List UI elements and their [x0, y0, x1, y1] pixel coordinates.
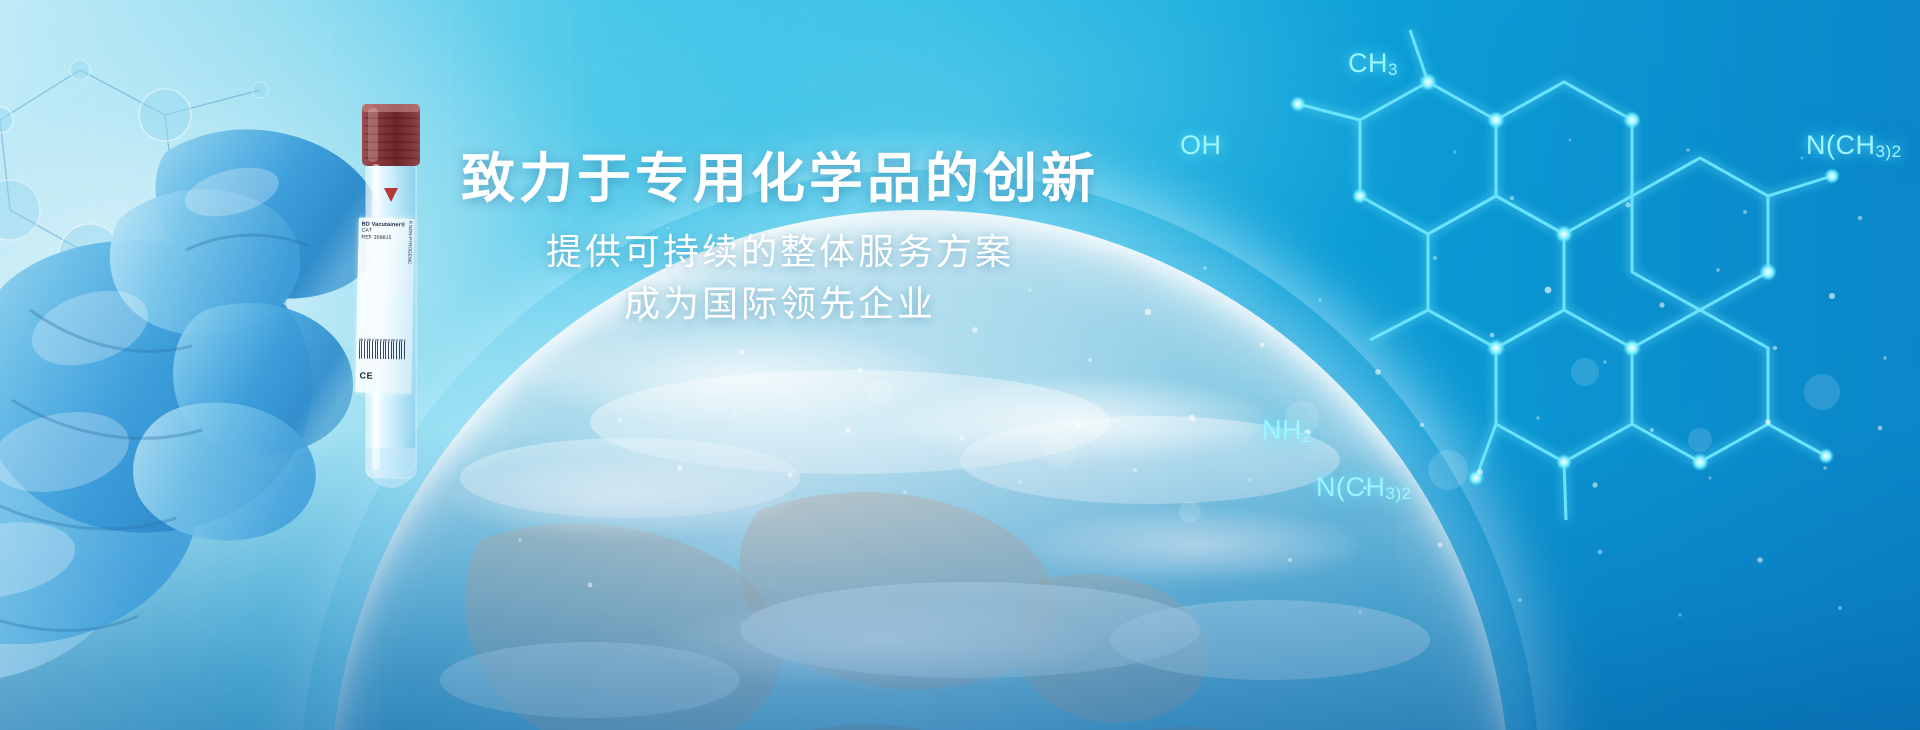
vial-barcode [359, 338, 405, 359]
chem-label-nh2: NH2 [1262, 415, 1312, 447]
ce-mark-icon: CE [359, 370, 373, 380]
subtitle-line-1: 提供可持续的整体服务方案 [0, 226, 1560, 278]
banner-copy: 致力于专用化学品的创新 提供可持续的整体服务方案 成为国际领先企业 [0, 148, 1560, 330]
chem-label-nch3-right: N(CH3)2 [1806, 130, 1902, 162]
page-title: 致力于专用化学品的创新 [0, 148, 1560, 210]
subtitle-line-2: 成为国际领先企业 [0, 278, 1560, 330]
chem-label-ch3: CH3 [1348, 48, 1398, 80]
hero-banner: CH3 OH N(CH3)2 NH2 N(CH3)2 [0, 0, 1920, 730]
earth-cloud [530, 330, 950, 426]
banner-subtitle: 提供可持续的整体服务方案 成为国际领先企业 [0, 226, 1560, 330]
chem-label-nch3-bottom: N(CH3)2 [1316, 472, 1412, 504]
